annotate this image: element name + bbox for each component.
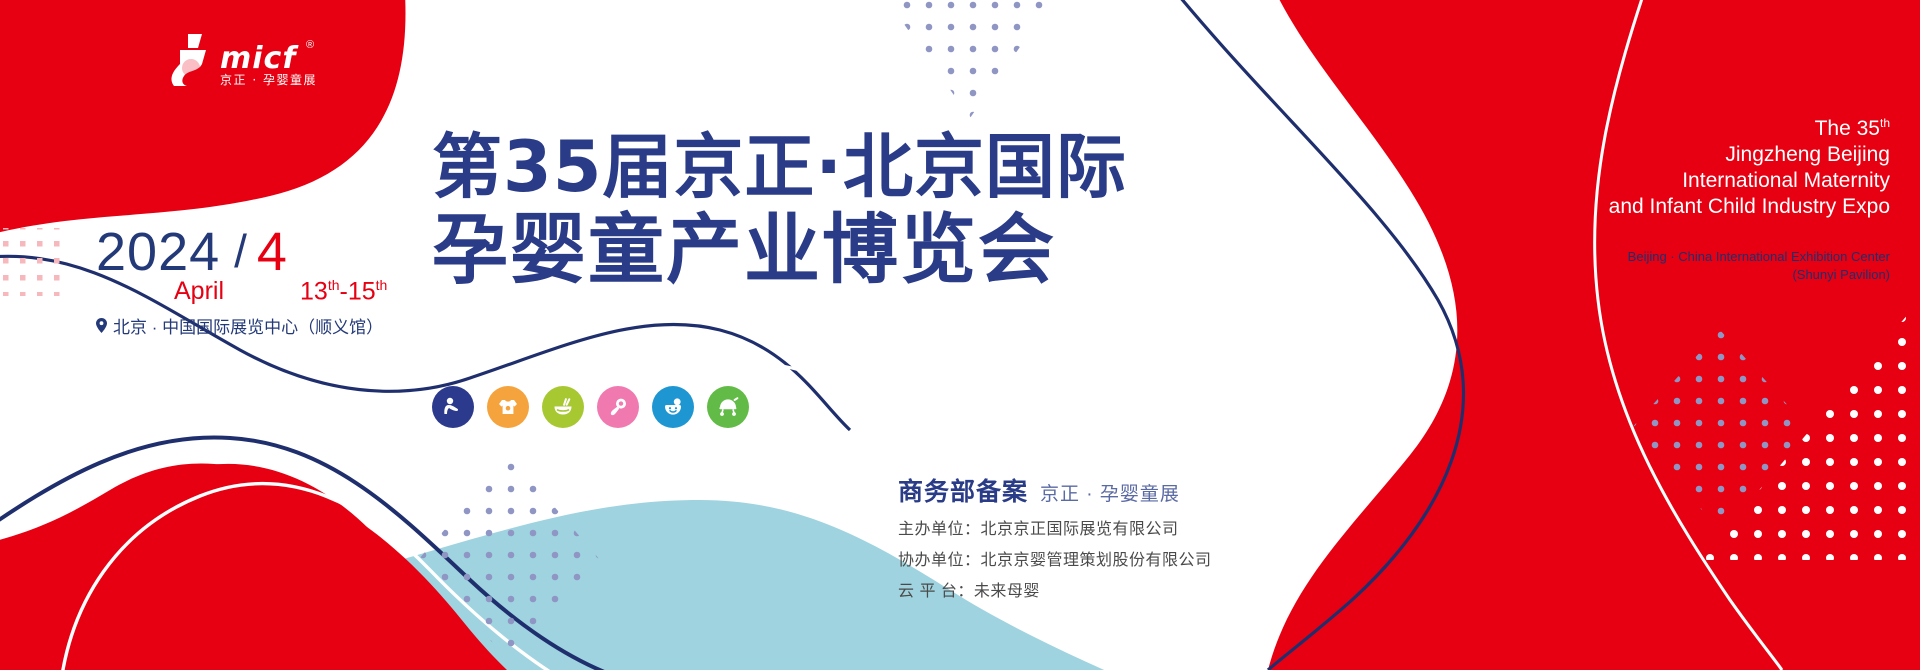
pacifier-icon[interactable]	[597, 386, 639, 428]
baby-food-bowl-icon[interactable]	[542, 386, 584, 428]
title-line-1: 第35届京正·北京国际	[432, 128, 1127, 206]
svg-text:micf: micf	[220, 41, 299, 76]
date-separator: /	[234, 226, 247, 276]
micf-flame-mark: micf ® 京正 · 孕婴童展	[158, 32, 338, 88]
venue-chinese-text: 北京 · 中国国际展览中心（顺义馆）	[113, 313, 383, 338]
english-line-4: and Infant Child Industry Expo	[1609, 194, 1890, 220]
organizer-line-cloud-platform: 云 平 台：未来母婴	[898, 577, 1212, 601]
days-range-text: 13th-15th	[300, 272, 387, 304]
stroller-icon[interactable]	[707, 386, 749, 428]
english-line-1: The 35th	[1609, 110, 1890, 142]
micf-logo[interactable]: micf ® 京正 · 孕婴童展	[158, 32, 338, 93]
month-number-text: 4	[257, 226, 287, 278]
venue-chinese: 北京 · 中国国际展览中心（顺义馆）	[96, 313, 436, 338]
english-line-3: International Maternity	[1609, 168, 1890, 194]
organizer-headline-sub: 京正 · 孕婴童展	[1040, 479, 1180, 506]
svg-text:京正 · 孕婴童展: 京正 · 孕婴童展	[220, 72, 317, 87]
english-venue-line-1: Beijing · China International Exhibition…	[1628, 248, 1890, 266]
year-text: 2024	[96, 226, 220, 278]
main-title: 第35届京正·北京国际 孕婴童产业博览会	[432, 128, 1127, 292]
title-line-2: 孕婴童产业博览会	[432, 208, 1127, 292]
organizer-line-host: 主办单位：北京京正国际展览有限公司	[898, 515, 1212, 539]
english-line-2: Jingzheng Beijing	[1609, 142, 1890, 168]
category-badges	[432, 386, 749, 428]
location-pin-icon	[96, 318, 107, 333]
month-english-text: April	[174, 278, 224, 304]
baby-onesie-icon[interactable]	[487, 386, 529, 428]
expo-banner: micf ® 京正 · 孕婴童展 2024 / 4 April 13th-15t…	[0, 0, 1920, 670]
organizer-headline: 商务部备案 京正 · 孕婴童展	[898, 472, 1212, 508]
svg-text:®: ®	[306, 39, 314, 51]
organizer-block: 商务部备案 京正 · 孕婴童展 主办单位：北京京正国际展览有限公司 协办单位：北…	[898, 472, 1212, 601]
baby-face-icon[interactable]	[652, 386, 694, 428]
date-primary-row: 2024 / 4	[96, 226, 436, 278]
english-venue-line-2: (Shunyi Pavilion)	[1628, 266, 1890, 284]
nursing-mother-icon[interactable]	[432, 386, 474, 428]
english-title-block: The 35th Jingzheng Beijing International…	[1609, 110, 1890, 220]
organizer-line-coorganizer: 协办单位：北京京婴管理策划股份有限公司	[898, 546, 1212, 570]
organizer-headline-strong: 商务部备案	[898, 472, 1028, 508]
english-venue-block: Beijing · China International Exhibition…	[1628, 248, 1890, 284]
date-block: 2024 / 4 April 13th-15th 北京 · 中国国际展览中心（顺…	[96, 226, 436, 338]
pink-square-dot-pattern	[0, 225, 70, 300]
